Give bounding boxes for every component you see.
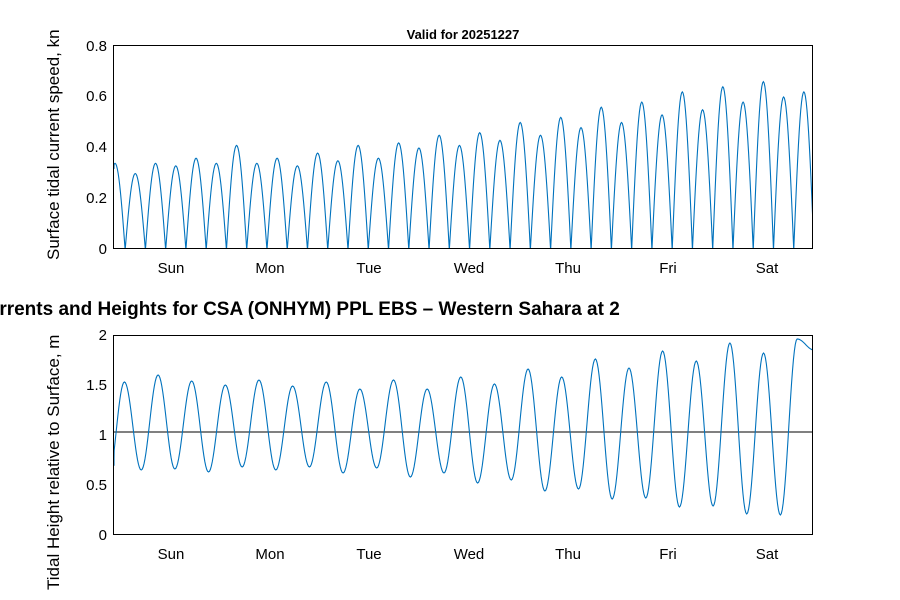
bottom-xtick-thu: Thu bbox=[537, 547, 599, 562]
top-xtick-fri: Fri bbox=[637, 261, 699, 276]
top-xtick-mon: Mon bbox=[239, 261, 301, 276]
top-ytick-4: 0.8 bbox=[63, 39, 107, 54]
bottom-ytick-1: 0.5 bbox=[63, 478, 107, 493]
bottom-xtick-tue: Tue bbox=[338, 547, 400, 562]
bottom-ytick-0: 0 bbox=[63, 528, 107, 543]
bottom-ytick-4: 2 bbox=[63, 328, 107, 343]
bottom-plot-axes bbox=[113, 335, 813, 535]
bottom-xtick-sun: Sun bbox=[140, 547, 202, 562]
top-ytick-3: 0.6 bbox=[63, 89, 107, 104]
top-plot-title: Valid for 20251227 bbox=[113, 27, 813, 42]
top-plot-canvas bbox=[114, 46, 813, 249]
bottom-plot-canvas bbox=[114, 336, 813, 535]
top-ytick-1: 0.2 bbox=[63, 191, 107, 206]
top-plot: Valid for 20251227 Surface tidal current… bbox=[0, 0, 900, 300]
top-xtick-tue: Tue bbox=[338, 261, 400, 276]
top-xtick-sat: Sat bbox=[736, 261, 798, 276]
top-plot-ylabel: Surface tidal current speed, kn bbox=[44, 29, 64, 260]
top-ytick-0: 0 bbox=[63, 242, 107, 257]
bottom-xtick-wed: Wed bbox=[438, 547, 500, 562]
bottom-ytick-2: 1 bbox=[63, 428, 107, 443]
bottom-xtick-sat: Sat bbox=[736, 547, 798, 562]
bottom-xtick-fri: Fri bbox=[637, 547, 699, 562]
bottom-plot-ylabel: Tidal Height relative to Surface, m bbox=[44, 335, 64, 590]
bottom-plot: Tidal Height relative to Surface, m 0 0.… bbox=[0, 300, 900, 600]
bottom-xtick-mon: Mon bbox=[239, 547, 301, 562]
top-xtick-thu: Thu bbox=[537, 261, 599, 276]
top-xtick-sun: Sun bbox=[140, 261, 202, 276]
top-xtick-wed: Wed bbox=[438, 261, 500, 276]
top-ytick-2: 0.4 bbox=[63, 140, 107, 155]
top-plot-axes bbox=[113, 45, 813, 249]
bottom-ytick-3: 1.5 bbox=[63, 378, 107, 393]
